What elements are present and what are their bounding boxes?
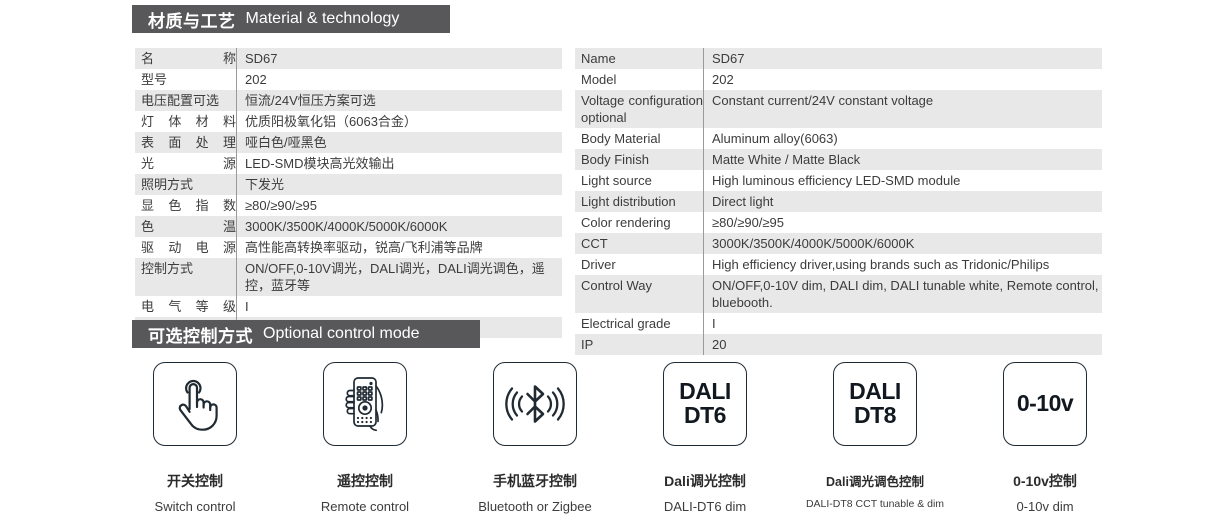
spec-value: 哑白色/哑黑色	[237, 132, 563, 153]
table-row: Light source High luminous efficiency LE…	[575, 170, 1102, 191]
section-header-control-mode: 可选控制方式 Optional control mode	[132, 320, 480, 348]
spec-key: Voltage configuration optional	[575, 90, 704, 128]
spec-value: High efficiency driver,using brands such…	[704, 254, 1103, 275]
table-row: 驱 动 电 源 高性能高转换率驱动，锐高/飞利浦等品牌	[135, 237, 562, 258]
spec-value: Matte White / Matte Black	[704, 149, 1103, 170]
spec-key: Model	[575, 69, 704, 90]
spec-table-english: Name SD67 Model 202 Voltage configuratio…	[575, 48, 1102, 355]
zero-to-ten-v-badge: 0-10v	[1017, 392, 1073, 416]
table-row: 光 源 LED-SMD模块高光效输出	[135, 153, 562, 174]
spec-key: 照明方式	[135, 174, 237, 195]
control-mode-label-cn: 开关控制	[167, 471, 223, 491]
spec-value: 20	[704, 334, 1103, 355]
control-mode-item-bluetooth[interactable]: 手机蓝牙控制 Bluetooth or Zigbee	[460, 362, 610, 514]
control-mode-label-en: DALI-DT8 CCT tunable & dim	[806, 498, 944, 510]
touch-hand-icon	[169, 376, 221, 432]
control-mode-label-en: Switch control	[155, 499, 236, 514]
table-row: 灯 体 材 料 优质阳极氧化铝（6063合金）	[135, 111, 562, 132]
spec-value: SD67	[704, 48, 1103, 69]
table-row: Driver High efficiency driver,using bran…	[575, 254, 1102, 275]
control-mode-item-switch[interactable]: 开关控制 Switch control	[120, 362, 270, 514]
spec-value: 下发光	[237, 174, 563, 195]
table-row: Light distribution Direct light	[575, 191, 1102, 212]
spec-value: Aluminum alloy(6063)	[704, 128, 1103, 149]
table-row: Electrical grade I	[575, 313, 1102, 334]
spec-value: 202	[704, 69, 1103, 90]
spec-key: Name	[575, 48, 704, 69]
control-mode-list: 开关控制 Switch control	[120, 362, 1120, 512]
spec-key: IP	[575, 334, 704, 355]
spec-value: SD67	[237, 48, 563, 69]
spec-value: 202	[237, 69, 563, 90]
spec-value: Constant current/24V constant voltage	[704, 90, 1103, 128]
dali-dt8-badge: DALI DT8	[849, 380, 901, 428]
spec-key: 光 源	[135, 153, 237, 174]
dali-dt8-icon-box: DALI DT8	[833, 362, 917, 446]
table-row: Name SD67	[575, 48, 1102, 69]
control-mode-item-dali-dt8[interactable]: DALI DT8 Dali调光调色控制 DALI-DT8 CCT tunable…	[800, 362, 950, 510]
spec-key: Color rendering	[575, 212, 704, 233]
section-header-material: 材质与工艺 Material & technology	[132, 5, 450, 33]
bluetooth-icon	[504, 382, 566, 426]
spec-value: 恒流/24V恒压方案可选	[237, 90, 563, 111]
control-mode-label-cn: 手机蓝牙控制	[493, 471, 577, 491]
dali-dt8-badge-line2: DT8	[849, 404, 901, 428]
spec-key: 显 色 指 数	[135, 195, 237, 216]
control-mode-label-en: Remote control	[321, 499, 409, 514]
spec-key: Body Material	[575, 128, 704, 149]
table-row: 色 温 3000K/3500K/4000K/5000K/6000K	[135, 216, 562, 237]
dali-dt6-badge-line1: DALI	[679, 380, 731, 404]
control-mode-label-cn: 0-10v控制	[1013, 471, 1077, 491]
table-row: Model 202	[575, 69, 1102, 90]
bluetooth-icon-box	[493, 362, 577, 446]
spec-value: ON/OFF,0-10V dim, DALI dim, DALI tunable…	[704, 275, 1103, 313]
table-row: Color rendering ≥80/≥90/≥95	[575, 212, 1102, 233]
spec-value: Direct light	[704, 191, 1103, 212]
control-mode-item-dali-dt6[interactable]: DALI DT6 Dali调光控制 DALI-DT6 dim	[630, 362, 780, 514]
table-row: 显 色 指 数 ≥80/≥90/≥95	[135, 195, 562, 216]
table-row: 控制方式 ON/OFF,0-10V调光，DALI调光，DALI调光调色，遥控，蓝…	[135, 258, 562, 296]
spec-key: 色 温	[135, 216, 237, 237]
section-header-control-en: Optional control mode	[263, 325, 420, 343]
table-row: 电压配置可选 恒流/24V恒压方案可选	[135, 90, 562, 111]
section-header-material-cn: 材质与工艺	[148, 7, 236, 32]
control-mode-label-cn: Dali调光调色控制	[826, 471, 924, 490]
spec-key: Control Way	[575, 275, 704, 313]
control-mode-item-remote[interactable]: 遥控控制 Remote control	[290, 362, 440, 514]
spec-key: Light distribution	[575, 191, 704, 212]
table-row: 电 气 等 级 I	[135, 296, 562, 317]
table-row: CCT 3000K/3500K/4000K/5000K/6000K	[575, 233, 1102, 254]
spec-value: 优质阳极氧化铝（6063合金）	[237, 111, 563, 132]
table-row: 名 称 SD67	[135, 48, 562, 69]
spec-key: 电压配置可选	[135, 90, 237, 111]
spec-value: I	[704, 313, 1103, 334]
spec-value: ON/OFF,0-10V调光，DALI调光，DALI调光调色，遥控，蓝牙等	[237, 258, 563, 296]
spec-value: ≥80/≥90/≥95	[704, 212, 1103, 233]
table-row: 型号 202	[135, 69, 562, 90]
spec-key: Driver	[575, 254, 704, 275]
table-row: IP 20	[575, 334, 1102, 355]
section-header-control-cn: 可选控制方式	[148, 322, 253, 347]
table-row: Voltage configuration optional Constant …	[575, 90, 1102, 128]
spec-key: 电 气 等 级	[135, 296, 237, 317]
table-row: Body Finish Matte White / Matte Black	[575, 149, 1102, 170]
control-mode-label-en: 0-10v dim	[1016, 499, 1073, 514]
section-header-material-en: Material & technology	[246, 10, 400, 28]
spec-value: LED-SMD模块高光效输出	[237, 153, 563, 174]
spec-value: ≥80/≥90/≥95	[237, 195, 563, 216]
table-row: Body Material Aluminum alloy(6063)	[575, 128, 1102, 149]
spec-key: 驱 动 电 源	[135, 237, 237, 258]
control-mode-label-cn: Dali调光控制	[664, 471, 746, 491]
spec-value: 3000K/3500K/4000K/5000K/6000K	[704, 233, 1103, 254]
switch-control-icon-box	[153, 362, 237, 446]
dali-dt6-badge: DALI DT6	[679, 380, 731, 428]
spec-value: 高性能高转换率驱动，锐高/飞利浦等品牌	[237, 237, 563, 258]
spec-value: High luminous efficiency LED-SMD module	[704, 170, 1103, 191]
spec-key: Body Finish	[575, 149, 704, 170]
spec-value: 3000K/3500K/4000K/5000K/6000K	[237, 216, 563, 237]
table-row: 表 面 处 理 哑白色/哑黑色	[135, 132, 562, 153]
spec-key: 灯 体 材 料	[135, 111, 237, 132]
zero-to-ten-v-icon-box: 0-10v	[1003, 362, 1087, 446]
spec-table-chinese: 名 称 SD67 型号 202 电压配置可选 恒流/24V恒压方案可选 灯 体 …	[135, 48, 562, 338]
dali-dt6-icon-box: DALI DT6	[663, 362, 747, 446]
table-row: 照明方式 下发光	[135, 174, 562, 195]
spec-key: 表 面 处 理	[135, 132, 237, 153]
spec-key: CCT	[575, 233, 704, 254]
remote-control-icon	[337, 374, 393, 434]
control-mode-label-cn: 遥控控制	[337, 471, 393, 491]
table-row: Control Way ON/OFF,0-10V dim, DALI dim, …	[575, 275, 1102, 313]
spec-key: 控制方式	[135, 258, 237, 296]
control-mode-label-en: Bluetooth or Zigbee	[478, 499, 591, 514]
spec-key: 名 称	[135, 48, 237, 69]
dali-dt8-badge-line1: DALI	[849, 380, 901, 404]
control-mode-label-en: DALI-DT6 dim	[664, 499, 746, 514]
spec-value: I	[237, 296, 563, 317]
spec-key: 型号	[135, 69, 237, 90]
spec-key: Electrical grade	[575, 313, 704, 334]
spec-key: Light source	[575, 170, 704, 191]
remote-control-icon-box	[323, 362, 407, 446]
dali-dt6-badge-line2: DT6	[679, 404, 731, 428]
control-mode-item-0-10v[interactable]: 0-10v 0-10v控制 0-10v dim	[970, 362, 1120, 514]
